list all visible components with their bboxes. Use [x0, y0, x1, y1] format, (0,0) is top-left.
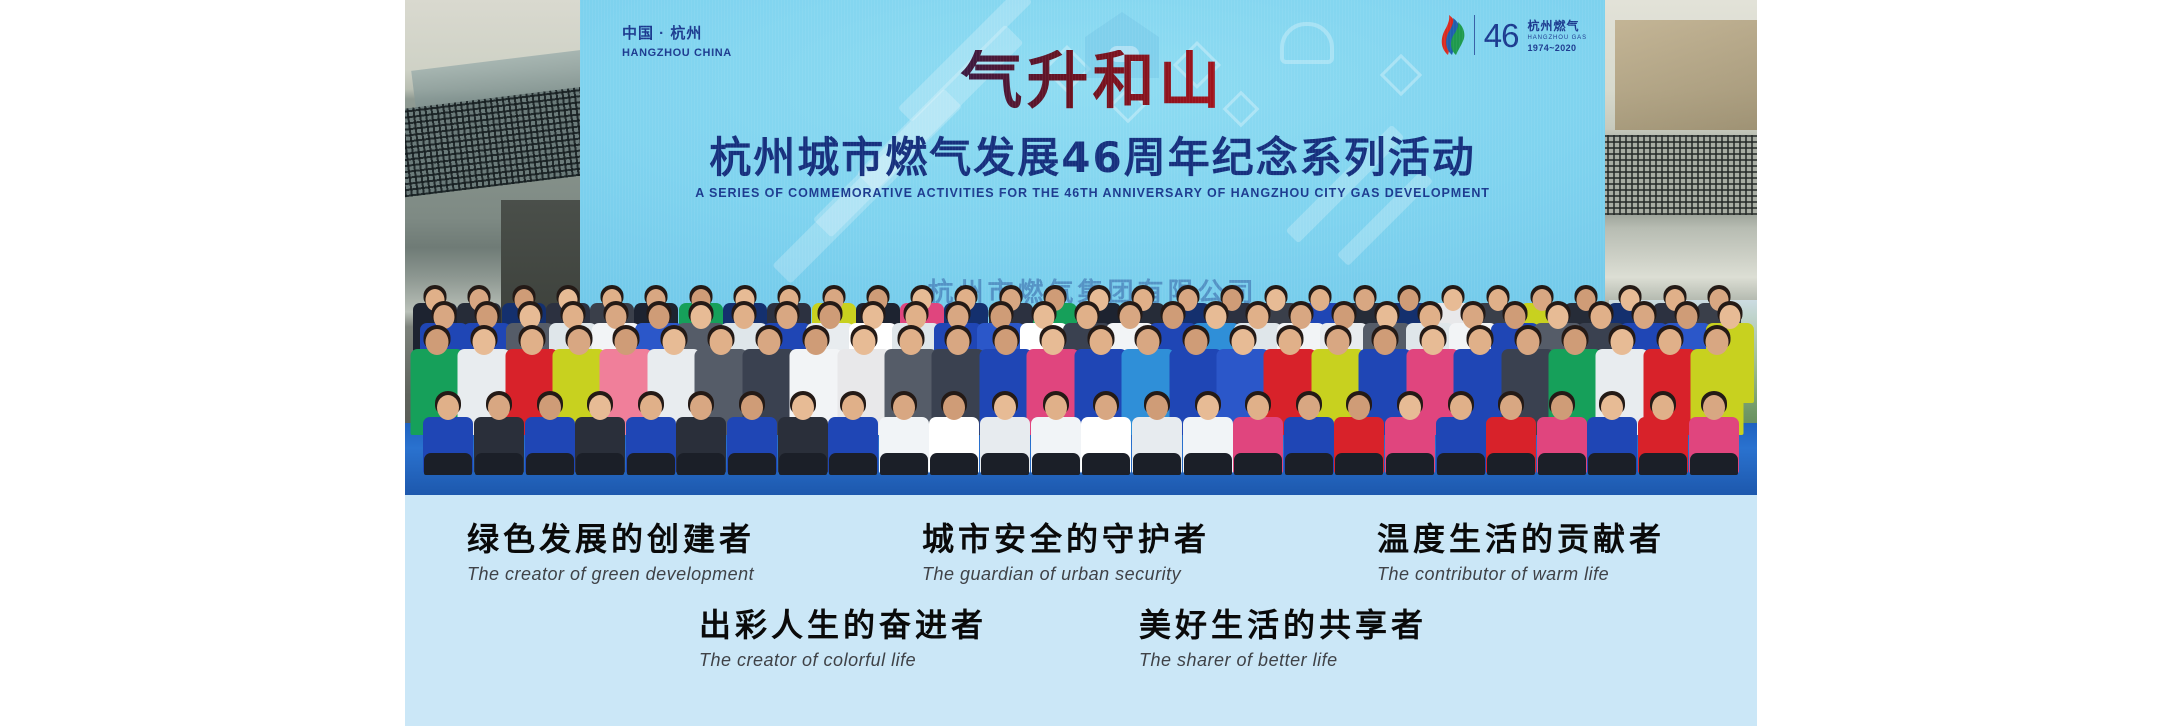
attendee-head [1516, 329, 1539, 355]
company-name-en: HANGZHOU GAS [1528, 35, 1587, 41]
attendee-front-row [525, 391, 575, 473]
attendee-front-row [1031, 391, 1081, 473]
attendee-head [1232, 329, 1255, 355]
attendee-head [473, 329, 496, 355]
attendee-head [520, 329, 543, 355]
crowd-of-attendees [405, 183, 1757, 495]
attendee-legs [677, 453, 725, 475]
attendee-front-row [1284, 391, 1334, 473]
attendee-legs [1335, 453, 1383, 475]
attendee-head [1197, 395, 1219, 420]
attendee-head [662, 329, 685, 355]
attendee-legs [424, 453, 472, 475]
attendee-head [994, 395, 1016, 420]
attendee-head [1184, 329, 1207, 355]
slogan-en: The sharer of better life [1139, 650, 1469, 671]
attendee-front-row [929, 391, 979, 473]
attendee-legs [930, 453, 978, 475]
slogan-item: 出彩人生的奋进者 The creator of colorful life [699, 607, 1029, 671]
attendee-legs [779, 453, 827, 475]
slogan-item: 温度生活的贡献者 The contributor of warm life [1377, 521, 1707, 585]
attendee-legs [728, 453, 776, 475]
slogan-cn: 城市安全的守护者 [922, 521, 1252, 558]
attendee-head [842, 395, 864, 420]
attendee-front-row [1486, 391, 1536, 473]
attendee-legs [1234, 453, 1282, 475]
attendee-head [943, 395, 965, 420]
slogan-row-1: 绿色发展的创建者 The creator of green developmen… [405, 495, 1757, 585]
attendee-head [1500, 395, 1522, 420]
attendee-front-row [1638, 391, 1688, 473]
attendee-front-row [1587, 391, 1637, 473]
attendee-head [757, 329, 780, 355]
attendee-head [1421, 329, 1444, 355]
attendee-front-row [423, 391, 473, 473]
attendee-head [805, 329, 828, 355]
slogan-row-2: 出彩人生的奋进者 The creator of colorful life 美好… [405, 585, 1757, 671]
slogan-cn: 温度生活的贡献者 [1377, 521, 1707, 558]
attendee-legs [1639, 453, 1687, 475]
attendee-head [1469, 329, 1492, 355]
attendee-head [994, 329, 1017, 355]
attendee-legs [1538, 453, 1586, 475]
location-cn: 中国 · 杭州 [622, 22, 732, 43]
attendee-front-row [1132, 391, 1182, 473]
attendee-head [1279, 329, 1302, 355]
attendee-front-row [1334, 391, 1384, 473]
attendee-head [568, 329, 591, 355]
attendee-head [947, 329, 970, 355]
attendee-front-row [1081, 391, 1131, 473]
attendee-front-row [1689, 391, 1739, 473]
slogan-cn: 美好生活的共享者 [1139, 607, 1469, 644]
attendee-head [1095, 395, 1117, 420]
page-root: 中国 · 杭州 HANGZHOU CHINA 46 杭州燃气 HANGZHOU … [0, 0, 2179, 726]
poster-content-block: 中国 · 杭州 HANGZHOU CHINA 46 杭州燃气 HANGZHOU … [405, 0, 1757, 726]
anniversary-text-group: 杭州燃气 HANGZHOU GAS 1974~2020 [1528, 17, 1587, 53]
slogan-cn: 出彩人生的奋进者 [699, 607, 1029, 644]
event-logotype: 气升和山 [580, 50, 1605, 112]
attendee-head [425, 329, 448, 355]
attendee-legs [1386, 453, 1434, 475]
slogan-en: The contributor of warm life [1377, 564, 1707, 585]
attendee-head [1146, 395, 1168, 420]
attendee-head [893, 395, 915, 420]
attendee-head [852, 329, 875, 355]
attendee-legs [627, 453, 675, 475]
attendee-head [1652, 395, 1674, 420]
attendee-head [1089, 329, 1112, 355]
slogan-en: The guardian of urban security [922, 564, 1252, 585]
attendee-head [1706, 329, 1729, 355]
attendee-legs [1082, 453, 1130, 475]
attendee-front-row [474, 391, 524, 473]
attendee-head [1399, 395, 1421, 420]
slogan-cn: 绿色发展的创建者 [467, 521, 797, 558]
attendee-front-row [879, 391, 929, 473]
attendee-legs [576, 453, 624, 475]
attendee-front-row [1233, 391, 1283, 473]
attendee-head [589, 395, 611, 420]
slogan-item: 美好生活的共享者 The sharer of better life [1139, 607, 1469, 671]
attendee-legs [1285, 453, 1333, 475]
attendee-legs [880, 453, 928, 475]
attendee-front-row [676, 391, 726, 473]
venue-glass-panel [1615, 20, 1757, 130]
attendee-front-row [778, 391, 828, 473]
attendee-head [615, 329, 638, 355]
attendee-head [1348, 395, 1370, 420]
attendee-legs [829, 453, 877, 475]
attendee-head [640, 395, 662, 420]
attendee-head [1045, 395, 1067, 420]
attendee-head [741, 395, 763, 420]
attendee-front-row [575, 391, 625, 473]
attendee-head [1298, 395, 1320, 420]
attendee-legs [1588, 453, 1636, 475]
attendee-head [1042, 329, 1065, 355]
attendee-head [1374, 329, 1397, 355]
attendee-front-row [626, 391, 676, 473]
attendee-head [1326, 329, 1349, 355]
slogan-en: The creator of green development [467, 564, 797, 585]
attendee-legs [1032, 453, 1080, 475]
attendee-head [1247, 395, 1269, 420]
attendee-front-row [1385, 391, 1435, 473]
attendee-head [900, 329, 923, 355]
attendee-head [710, 329, 733, 355]
attendee-front-row [828, 391, 878, 473]
attendee-head [437, 395, 459, 420]
attendee-legs [981, 453, 1029, 475]
attendee-legs [526, 453, 574, 475]
attendee-head [1551, 395, 1573, 420]
group-photo: 中国 · 杭州 HANGZHOU CHINA 46 杭州燃气 HANGZHOU … [405, 0, 1757, 495]
slogan-section: 绿色发展的创建者 The creator of green developmen… [405, 495, 1757, 726]
slogan-item: 城市安全的守护者 The guardian of urban security [922, 521, 1252, 585]
event-headline: 杭州城市燃气发展46周年纪念系列活动 [580, 135, 1605, 180]
attendee-legs [475, 453, 523, 475]
attendee-legs [1487, 453, 1535, 475]
attendee-front-row [1537, 391, 1587, 473]
attendee-legs [1690, 453, 1738, 475]
attendee-head [1658, 329, 1681, 355]
logo-divider [1474, 15, 1475, 55]
attendee-head [1450, 395, 1472, 420]
anniversary-number: 46 [1484, 19, 1519, 52]
attendee-head [792, 395, 814, 420]
attendee-front-row [727, 391, 777, 473]
attendee-legs [1133, 453, 1181, 475]
attendee-head [690, 395, 712, 420]
attendee-head [1601, 395, 1623, 420]
attendee-head [539, 395, 561, 420]
attendee-head [1611, 329, 1634, 355]
attendee-front-row [980, 391, 1030, 473]
attendee-front-row [1436, 391, 1486, 473]
attendee-legs [1437, 453, 1485, 475]
attendee-head [488, 395, 510, 420]
company-name-cn: 杭州燃气 [1528, 17, 1587, 34]
attendee-head [1137, 329, 1160, 355]
slogan-item: 绿色发展的创建者 The creator of green developmen… [467, 521, 797, 585]
attendee-front-row [1183, 391, 1233, 473]
attendee-head [1564, 329, 1587, 355]
slogan-en: The creator of colorful life [699, 650, 1029, 671]
attendee-legs [1184, 453, 1232, 475]
attendee-head [1703, 395, 1725, 420]
